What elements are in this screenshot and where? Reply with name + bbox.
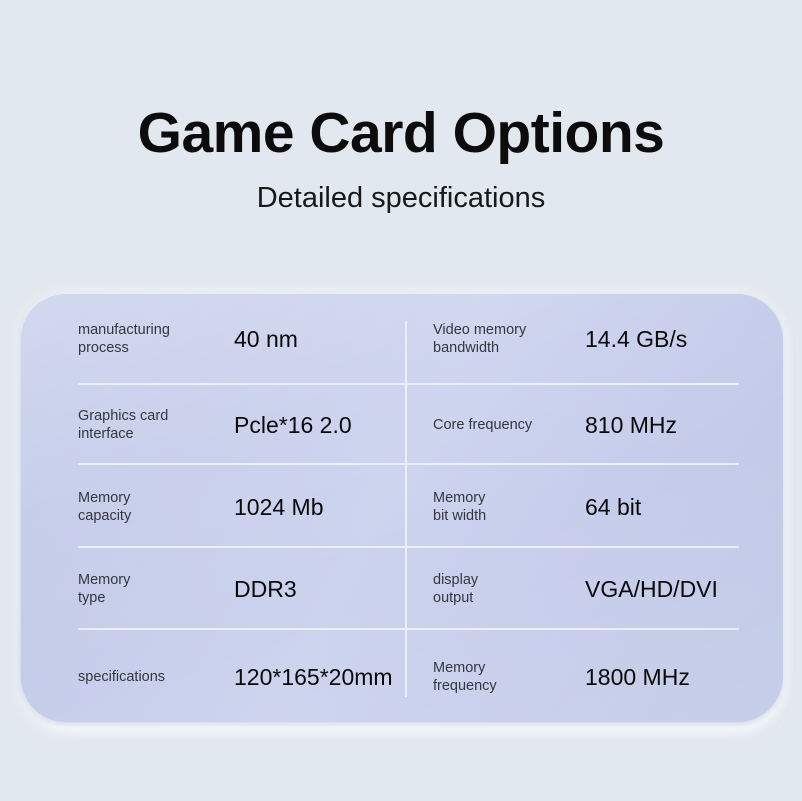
page-subtitle: Detailed specifications [0, 168, 802, 216]
table-row: manufacturing process 40 nm Video memory… [20, 293, 783, 385]
spec-value: 810 MHz [585, 411, 677, 439]
spec-value: 120*165*20mm [234, 663, 393, 691]
spec-cell-left: Memory type DDR3 [20, 548, 405, 630]
spec-value: 1800 MHz [585, 663, 690, 691]
spec-value: VGA/HD/DVI [585, 575, 718, 603]
spec-cell-left: Memory capacity 1024 Mb [20, 465, 405, 548]
spec-label: Memory capacity [78, 489, 230, 525]
page-header: Game Card Options Detailed specification… [0, 0, 802, 216]
table-row: specifications 120*165*20mm Memory frequ… [20, 630, 783, 723]
spec-cell-right: Memory bit width 64 bit [405, 465, 783, 548]
spec-label: Core frequency [433, 416, 583, 434]
table-row: Memory capacity 1024 Mb Memory bit width… [20, 465, 783, 548]
table-row: Memory type DDR3 display output VGA/HD/D… [20, 548, 783, 630]
spec-label: Memory type [78, 571, 230, 607]
spec-cell-right: Memory frequency 1800 MHz [405, 630, 783, 723]
spec-label: Video memory bandwidth [433, 321, 583, 357]
spec-cell-right: display output VGA/HD/DVI [405, 548, 783, 630]
spec-value: 64 bit [585, 493, 641, 521]
spec-label: specifications [78, 668, 230, 686]
spec-value: 40 nm [234, 325, 298, 353]
spec-cell-left: Graphics card interface Pcle*16 2.0 [20, 385, 405, 465]
page-title: Game Card Options [0, 0, 802, 168]
column-divider [405, 321, 407, 697]
spec-cell-right: Video memory bandwidth 14.4 GB/s [405, 293, 783, 385]
spec-cell-left: specifications 120*165*20mm [20, 630, 405, 723]
specifications-table: manufacturing process 40 nm Video memory… [20, 293, 783, 723]
spec-label: Graphics card interface [78, 407, 230, 443]
spec-label: display output [433, 571, 583, 607]
spec-value: DDR3 [234, 575, 297, 603]
spec-cell-right: Core frequency 810 MHz [405, 385, 783, 465]
spec-label: Memory frequency [433, 659, 583, 695]
spec-value: 1024 Mb [234, 493, 324, 521]
spec-label: Memory bit width [433, 489, 583, 525]
spec-value: 14.4 GB/s [585, 325, 687, 353]
spec-label: manufacturing process [78, 321, 230, 357]
spec-value: Pcle*16 2.0 [234, 411, 352, 439]
specifications-card: manufacturing process 40 nm Video memory… [20, 293, 783, 723]
specifications-card-container: manufacturing process 40 nm Video memory… [12, 284, 790, 740]
spec-cell-left: manufacturing process 40 nm [20, 293, 405, 385]
table-row: Graphics card interface Pcle*16 2.0 Core… [20, 385, 783, 465]
